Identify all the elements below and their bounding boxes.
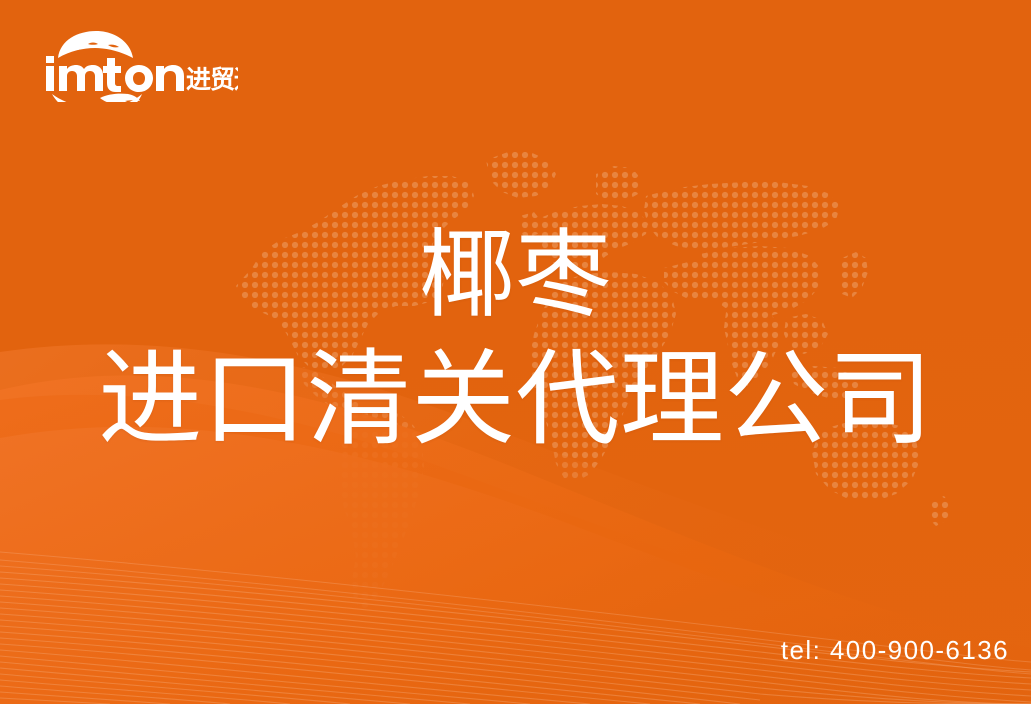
- logo-chinese-mark: 进贸通 ®: [186, 58, 238, 94]
- logo-mark: 进贸通 ®: [38, 30, 238, 102]
- headline-line-1: 椰枣: [0, 228, 1031, 324]
- logo-wordmark: [46, 56, 184, 92]
- globe-arc-icon: [58, 31, 133, 58]
- page-title: 椰枣 进口清关代理公司: [0, 228, 1031, 452]
- svg-text:进贸通: 进贸通: [186, 65, 238, 94]
- promo-banner: 进贸通 ® imton 进贸通 ® 椰枣 进口清关代理公司 tel: 400-9…: [0, 0, 1031, 704]
- swoosh-bird-icon: [52, 94, 142, 102]
- contact-phone: tel: 400-900-6136: [781, 635, 1009, 666]
- headline-line-2: 进口清关代理公司: [0, 348, 1031, 452]
- brand-logo: 进贸通 ® imton 进贸通 ®: [38, 30, 238, 102]
